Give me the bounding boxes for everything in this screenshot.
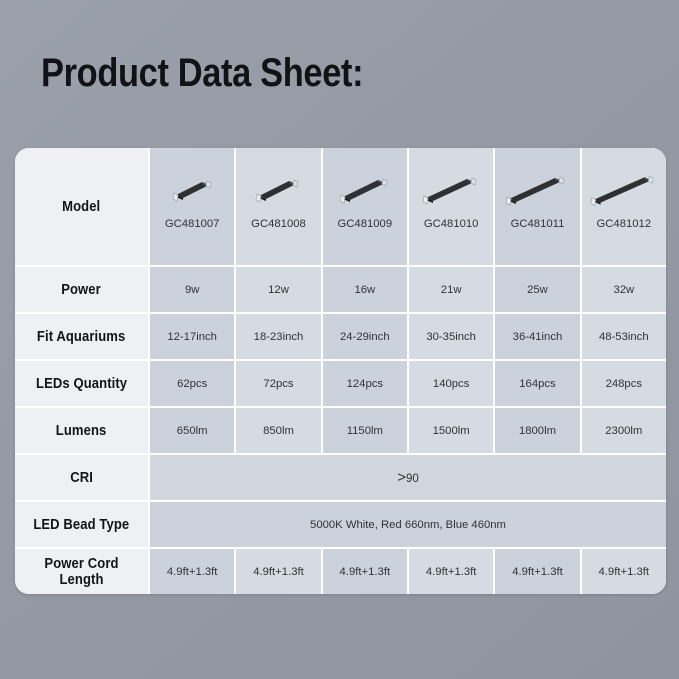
table-cell: 25w (495, 267, 579, 312)
row-label-model: Model (15, 148, 148, 265)
table-row-model: Model GC481007 (15, 148, 666, 265)
power-cord-length-cells: 4.9ft+1.3ft 4.9ft+1.3ft 4.9ft+1.3ft 4.9f… (148, 549, 666, 594)
table-cell: 21w (409, 267, 493, 312)
model-name: GC481012 (596, 218, 651, 230)
model-cell: GC481011 (495, 148, 579, 265)
led-aquarium-light-bar-icon (498, 162, 576, 214)
table-row-led-bead-type: LED Bead Type 5000K White, Red 660nm, Bl… (15, 502, 666, 547)
model-name: GC481010 (424, 218, 479, 230)
table-cell: 30-35inch (409, 314, 493, 359)
table-cell: 4.9ft+1.3ft (582, 549, 666, 594)
row-label-power: Power (15, 267, 148, 312)
row-label-led-bead-type: LED Bead Type (15, 502, 148, 547)
led-aquarium-light-bar-icon (153, 162, 231, 214)
model-cell: GC481012 (582, 148, 666, 265)
row-label-power-cord-length: Power Cord Length (15, 549, 148, 594)
page-title: Product Data Sheet: (41, 50, 363, 96)
table-cell: 850lm (236, 408, 320, 453)
lumens-cells: 650lm 850lm 1150lm 1500lm 1800lm 2300lm (148, 408, 666, 453)
table-cell: 4.9ft+1.3ft (150, 549, 234, 594)
model-cell: GC481008 (236, 148, 320, 265)
table-cell: 32w (582, 267, 666, 312)
table-cell: 140pcs (409, 361, 493, 406)
table-cell: 4.9ft+1.3ft (409, 549, 493, 594)
led-bead-type-cells: 5000K White, Red 660nm, Blue 460nm (148, 502, 666, 547)
table-cell: 24-29inch (323, 314, 407, 359)
row-label-fit-aquariums: Fit Aquariums (15, 314, 148, 359)
table-cell: 1800lm (495, 408, 579, 453)
table-cell: 4.9ft+1.3ft (323, 549, 407, 594)
table-cell: 9w (150, 267, 234, 312)
model-cell: GC481007 (150, 148, 234, 265)
row-label-cri: CRI (15, 455, 148, 500)
model-cell: GC481009 (323, 148, 407, 265)
table-cell: 1500lm (409, 408, 493, 453)
greater-than-icon: > (397, 470, 406, 485)
table-cell: 650lm (150, 408, 234, 453)
model-name: GC481007 (165, 218, 220, 230)
fit-aquariums-cells: 12-17inch 18-23inch 24-29inch 30-35inch … (148, 314, 666, 359)
row-label-leds-quantity: LEDs Quantity (15, 361, 148, 406)
model-cells: GC481007 GC481008 (148, 148, 666, 265)
model-name: GC481008 (251, 218, 306, 230)
model-name: GC481009 (337, 218, 392, 230)
table-cell: 48-53inch (582, 314, 666, 359)
table-cell: 72pcs (236, 361, 320, 406)
table-row-fit-aquariums: Fit Aquariums 12-17inch 18-23inch 24-29i… (15, 314, 666, 359)
table-cell: 2300lm (582, 408, 666, 453)
model-name: GC481011 (511, 218, 565, 230)
table-cell: 164pcs (495, 361, 579, 406)
table-row-power-cord-length: Power Cord Length 4.9ft+1.3ft 4.9ft+1.3f… (15, 549, 666, 594)
table-cell-merged: >90 (150, 455, 666, 500)
table-cell: 4.9ft+1.3ft (236, 549, 320, 594)
power-cells: 9w 12w 16w 21w 25w 32w (148, 267, 666, 312)
table-cell: 16w (323, 267, 407, 312)
table-cell: 12-17inch (150, 314, 234, 359)
cri-number: 90 (406, 473, 419, 485)
led-aquarium-light-bar-icon (585, 162, 663, 214)
table-cell: 4.9ft+1.3ft (495, 549, 579, 594)
table-cell: 36-41inch (495, 314, 579, 359)
led-aquarium-light-bar-icon (239, 162, 317, 214)
table-cell: 62pcs (150, 361, 234, 406)
table-cell: 1150lm (323, 408, 407, 453)
table-row-cri: CRI >90 (15, 455, 666, 500)
table-row-power: Power 9w 12w 16w 21w 25w 32w (15, 267, 666, 312)
table-row-leds-quantity: LEDs Quantity 62pcs 72pcs 124pcs 140pcs … (15, 361, 666, 406)
product-spec-table: Model GC481007 (15, 148, 666, 594)
table-cell-merged: 5000K White, Red 660nm, Blue 460nm (150, 502, 666, 547)
model-cell: GC481010 (409, 148, 493, 265)
cri-cells: >90 (148, 455, 666, 500)
table-cell: 248pcs (582, 361, 666, 406)
led-aquarium-light-bar-icon (326, 162, 404, 214)
table-row-lumens: Lumens 650lm 850lm 1150lm 1500lm 1800lm … (15, 408, 666, 453)
led-aquarium-light-bar-icon (412, 162, 490, 214)
row-label-lumens: Lumens (15, 408, 148, 453)
cri-value: >90 (397, 470, 419, 485)
leds-quantity-cells: 62pcs 72pcs 124pcs 140pcs 164pcs 248pcs (148, 361, 666, 406)
table-cell: 12w (236, 267, 320, 312)
table-cell: 124pcs (323, 361, 407, 406)
table-cell: 18-23inch (236, 314, 320, 359)
